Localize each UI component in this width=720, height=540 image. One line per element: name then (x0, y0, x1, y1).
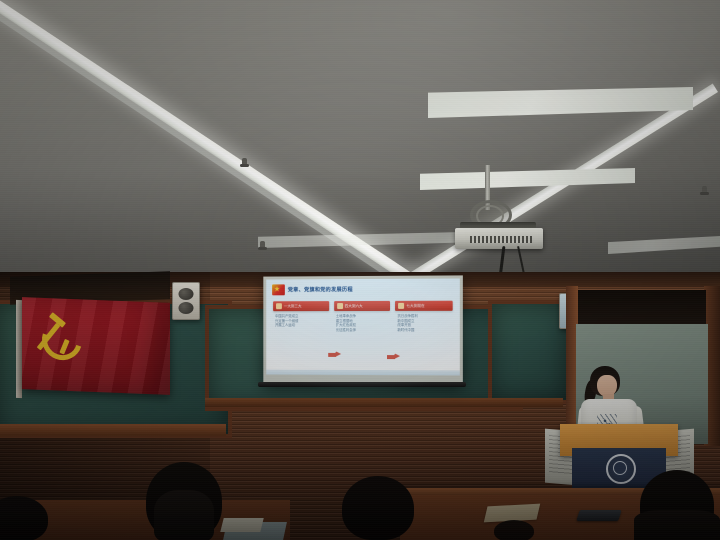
slide-card-2: 四大到六大 土地革命战争 建立根据地 扩大红色政权 长征胜利会师 (334, 301, 391, 332)
slide-card-2-header: 四大到六大 (334, 301, 391, 311)
chalkboard-right (488, 300, 570, 404)
slide-card-row: 一大到三大 中国共产党成立 兴定第一个纲领 开展工人运动 四大到六大 土地革命战… (273, 301, 453, 333)
university-seal-emblem (606, 454, 636, 484)
audience-head-4 (640, 470, 714, 540)
audience-head-1 (146, 462, 222, 540)
slide-title: 党章、党旗和党的发展历程 (288, 286, 353, 293)
flow-arrow-1 (328, 351, 341, 358)
sprinkler-head-1 (242, 158, 247, 166)
wall-alcove-recess (578, 290, 706, 326)
presentation-slide: 党章、党旗和党的发展历程 一大到三大 中国共产党成立 兴定第一个纲领 开展工人运… (266, 278, 460, 375)
chalkboard-ledge-center (205, 398, 563, 407)
smartphone (576, 510, 622, 521)
wall-speaker-left (172, 282, 200, 320)
party-emblem-icon (272, 284, 285, 295)
flow-arrow-2 (387, 353, 400, 360)
slide-card-3-line-4: 新时代中国 (397, 328, 451, 333)
slide-card-2-line-4: 长征胜利会师 (336, 328, 390, 333)
slide-card-1-header: 一大到三大 (273, 301, 329, 311)
projection-screen: 党章、党旗和党的发展历程 一大到三大 中国共产党成立 兴定第一个纲领 开展工人运… (263, 275, 463, 384)
audience-head-2 (342, 476, 414, 540)
paper-sheet-secondary (220, 518, 263, 532)
slide-card-1-line-3: 开展工人运动 (275, 323, 328, 328)
slide-card-3: 七大到现在 抗日战争胜利 新中国成立 改革开放 新时代中国 (395, 301, 452, 333)
slide-title-row: 党章、党旗和党的发展历程 (272, 283, 454, 296)
chalkboard-ledge-left (0, 424, 226, 436)
classroom-presentation-photo: 党章、党旗和党的发展历程 一大到三大 中国共产党成立 兴定第一个纲领 开展工人运… (0, 0, 720, 540)
arrow-head (335, 351, 341, 357)
slide-card-1-header-label: 一大到三大 (284, 304, 302, 309)
red-flag-icon (398, 303, 404, 309)
slide-card-1: 一大到三大 中国共产党成立 兴定第一个纲领 开展工人运动 (273, 301, 329, 332)
speaker-driver-upper (179, 288, 194, 300)
red-flag-icon (276, 303, 282, 309)
sprinkler-head-3 (702, 186, 707, 194)
audience-head-5 (494, 520, 534, 540)
speaker-driver-lower (179, 302, 194, 314)
slide-bottom-bar (266, 370, 460, 376)
slide-card-3-body: 抗日战争胜利 新中国成立 改革开放 新时代中国 (395, 311, 452, 333)
slide-card-3-header-label: 七大到现在 (406, 303, 424, 308)
slide-card-1-body: 中国共产党成立 兴定第一个纲领 开展工人运动 (273, 311, 329, 328)
slide-card-2-header-label: 四大到六大 (345, 303, 363, 308)
slide-card-3-header: 七大到现在 (395, 301, 452, 311)
slide-card-2-body: 土地革命战争 建立根据地 扩大红色政权 长征胜利会师 (334, 311, 391, 332)
projection-screen-bottom-rod (258, 382, 466, 387)
projector-vent-grille (470, 236, 532, 243)
sprinkler-head-2 (260, 241, 265, 249)
arrow-head (394, 353, 400, 359)
red-flag-icon (337, 303, 343, 309)
hammer-and-sickle-icon (36, 313, 82, 359)
